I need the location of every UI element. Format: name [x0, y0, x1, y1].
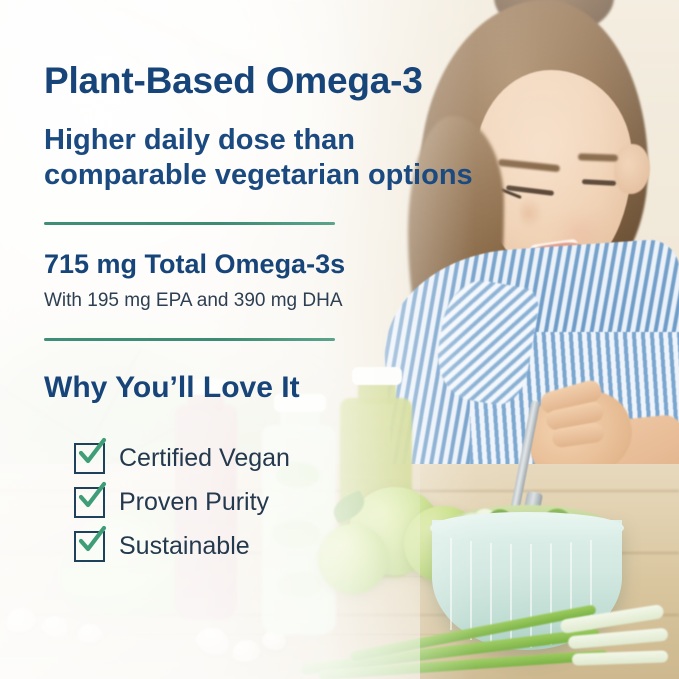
subtitle-line-2: comparable vegetarian options	[44, 158, 473, 192]
divider-bottom	[44, 338, 335, 341]
list-item: Sustainable	[74, 524, 290, 568]
benefit-label: Proven Purity	[119, 489, 269, 516]
checkbox-checked-icon	[74, 443, 105, 474]
subtitle-line-1: Higher daily dose than	[44, 123, 355, 157]
benefits-list: Certified Vegan Proven Purity Sustainabl…	[74, 436, 290, 568]
divider-top	[44, 222, 335, 225]
dose-primary: 715 mg Total Omega-3s	[44, 248, 345, 280]
list-item: Certified Vegan	[74, 436, 290, 480]
checkbox-checked-icon	[74, 531, 105, 562]
benefit-label: Certified Vegan	[119, 445, 290, 472]
dose-secondary: With 195 mg EPA and 390 mg DHA	[44, 289, 343, 313]
page-title: Plant-Based Omega-3	[44, 60, 423, 102]
benefit-label: Sustainable	[119, 533, 250, 560]
checkbox-checked-icon	[74, 487, 105, 518]
list-item: Proven Purity	[74, 480, 290, 524]
benefits-heading: Why You’ll Love It	[44, 370, 300, 406]
product-infographic: Plant-Based Omega-3 Higher daily dose th…	[0, 0, 679, 679]
text-content: Plant-Based Omega-3 Higher daily dose th…	[0, 0, 679, 679]
